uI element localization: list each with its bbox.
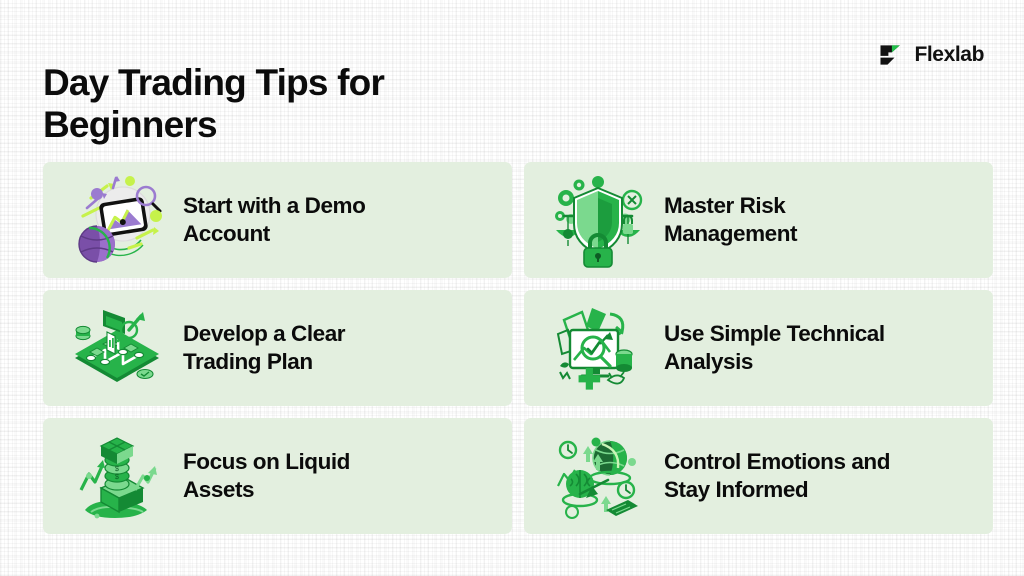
page-title-line-1: Day Trading Tips for: [43, 62, 563, 104]
shield-scales-padlock-illustration-icon: [544, 170, 652, 270]
liquid-cash-growth-illustration-icon: $ $: [63, 426, 171, 526]
tip-card-technical-analysis[interactable]: Use Simple Technical Analysis: [524, 290, 993, 406]
brand-logo: Flexlab: [877, 41, 984, 69]
tip-card-title-line-1: Control Emotions and: [664, 449, 890, 474]
svg-text:$: $: [115, 474, 119, 481]
tip-card-title: Start with a Demo Account: [183, 192, 365, 249]
tip-card-title-line-1: Master Risk: [664, 193, 785, 218]
slide-canvas: Day Trading Tips for Beginners Flexlab: [0, 0, 1024, 576]
tip-card-title: Develop a Clear Trading Plan: [183, 320, 345, 377]
tip-card-title-line-1: Focus on Liquid: [183, 449, 350, 474]
brain-globe-clock-illustration-icon: [544, 426, 652, 526]
tip-card-control-emotions[interactable]: Control Emotions and Stay Informed: [524, 418, 993, 534]
page-title-line-2: Beginners: [43, 104, 563, 146]
page-title: Day Trading Tips for Beginners: [43, 62, 563, 146]
svg-text:$: $: [115, 466, 119, 473]
tip-card-title-line-2: Management: [664, 221, 797, 246]
tip-card-title-line-1: Develop a Clear: [183, 321, 345, 346]
tip-card-title-line-1: Use Simple Technical: [664, 321, 885, 346]
tip-card-title-line-2: Stay Informed: [664, 477, 808, 502]
tip-card-trading-plan[interactable]: Develop a Clear Trading Plan: [43, 290, 512, 406]
isometric-plan-board-illustration-icon: [63, 298, 171, 398]
tip-card-title-line-2: Assets: [183, 477, 254, 502]
tip-card-title-line-2: Trading Plan: [183, 349, 313, 374]
tip-card-risk-management[interactable]: Master Risk Management: [524, 162, 993, 278]
tip-card-title-line-2: Account: [183, 221, 270, 246]
brand-name: Flexlab: [914, 43, 984, 67]
tip-card-title-line-2: Analysis: [664, 349, 753, 374]
tip-card-title: Master Risk Management: [664, 192, 797, 249]
tip-card-demo-account[interactable]: Start with a Demo Account: [43, 162, 512, 278]
tablet-chart-globe-illustration-icon: [63, 170, 171, 270]
tips-card-grid: Start with a Demo Account: [43, 162, 982, 534]
tip-card-liquid-assets[interactable]: $ $: [43, 418, 512, 534]
tip-card-title: Control Emotions and Stay Informed: [664, 448, 890, 505]
monitor-chart-magnifier-illustration-icon: [544, 298, 652, 398]
flexlab-chevron-mark-icon: [877, 41, 905, 69]
tip-card-title: Focus on Liquid Assets: [183, 448, 350, 505]
tip-card-title-line-1: Start with a Demo: [183, 193, 365, 218]
tip-card-title: Use Simple Technical Analysis: [664, 320, 885, 377]
